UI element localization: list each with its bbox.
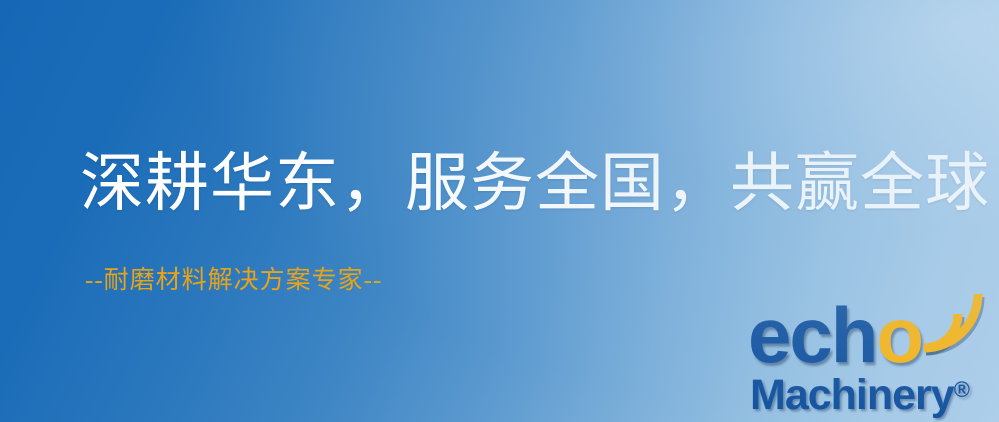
page-title: 深耕华东，服务全国，共赢全球	[80, 152, 990, 216]
logo-tagline-text: Machinery	[750, 371, 954, 419]
registered-trademark-icon: ®	[954, 377, 970, 402]
banner-subtitle: --耐磨材料解决方案专家--	[85, 268, 382, 293]
promo-banner: 深耕华东，服务全国，共赢全球 --耐磨材料解决方案专家-- echo Machi…	[0, 0, 999, 422]
logo-text-ech: ech	[748, 291, 876, 379]
company-logo[interactable]: echo Machinery®	[748, 296, 996, 420]
signal-arcs-icon	[914, 292, 980, 354]
logo-tagline: Machinery®	[750, 368, 970, 417]
logo-wordmark: echo	[748, 296, 922, 374]
